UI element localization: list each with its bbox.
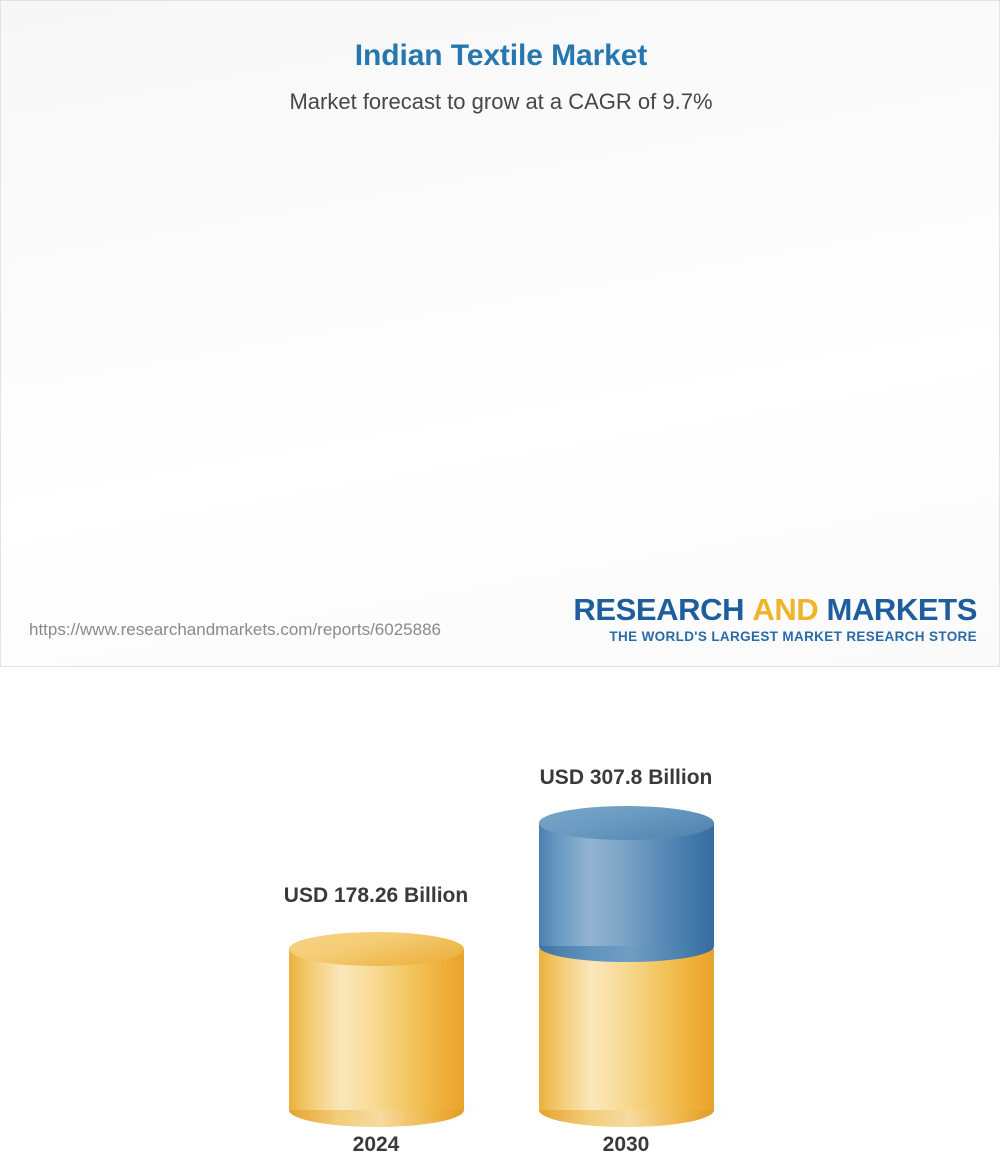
infographic-canvas: Indian Textile Market Market forecast to…	[0, 0, 1000, 667]
brand-word-markets: MARKETS	[827, 592, 977, 627]
cylinder-top-cap-2024	[289, 932, 464, 966]
cylinder-body-2024	[289, 949, 464, 1110]
cylinder-top-cap-2030	[539, 806, 714, 840]
brand-wordmark: RESEARCH AND MARKETS	[573, 594, 977, 625]
brand-logo: RESEARCH AND MARKETS THE WORLD'S LARGEST…	[573, 594, 977, 644]
chart-plot-area: USD 178.26 Billion 2024 USD 307.8 Billio…	[1, 1, 1000, 601]
brand-word-research: RESEARCH	[573, 592, 744, 627]
source-url[interactable]: https://www.researchandmarkets.com/repor…	[29, 620, 441, 640]
value-label-2030: USD 307.8 Billion	[456, 766, 796, 790]
brand-tagline: THE WORLD'S LARGEST MARKET RESEARCH STOR…	[573, 629, 977, 644]
brand-word-and: AND	[752, 592, 818, 627]
value-label-2024: USD 178.26 Billion	[206, 884, 546, 908]
category-label-2030: 2030	[456, 1133, 796, 1157]
cylinder-segment-growth-2030	[539, 823, 714, 946]
cylinder-segment-base-2030	[539, 949, 714, 1110]
